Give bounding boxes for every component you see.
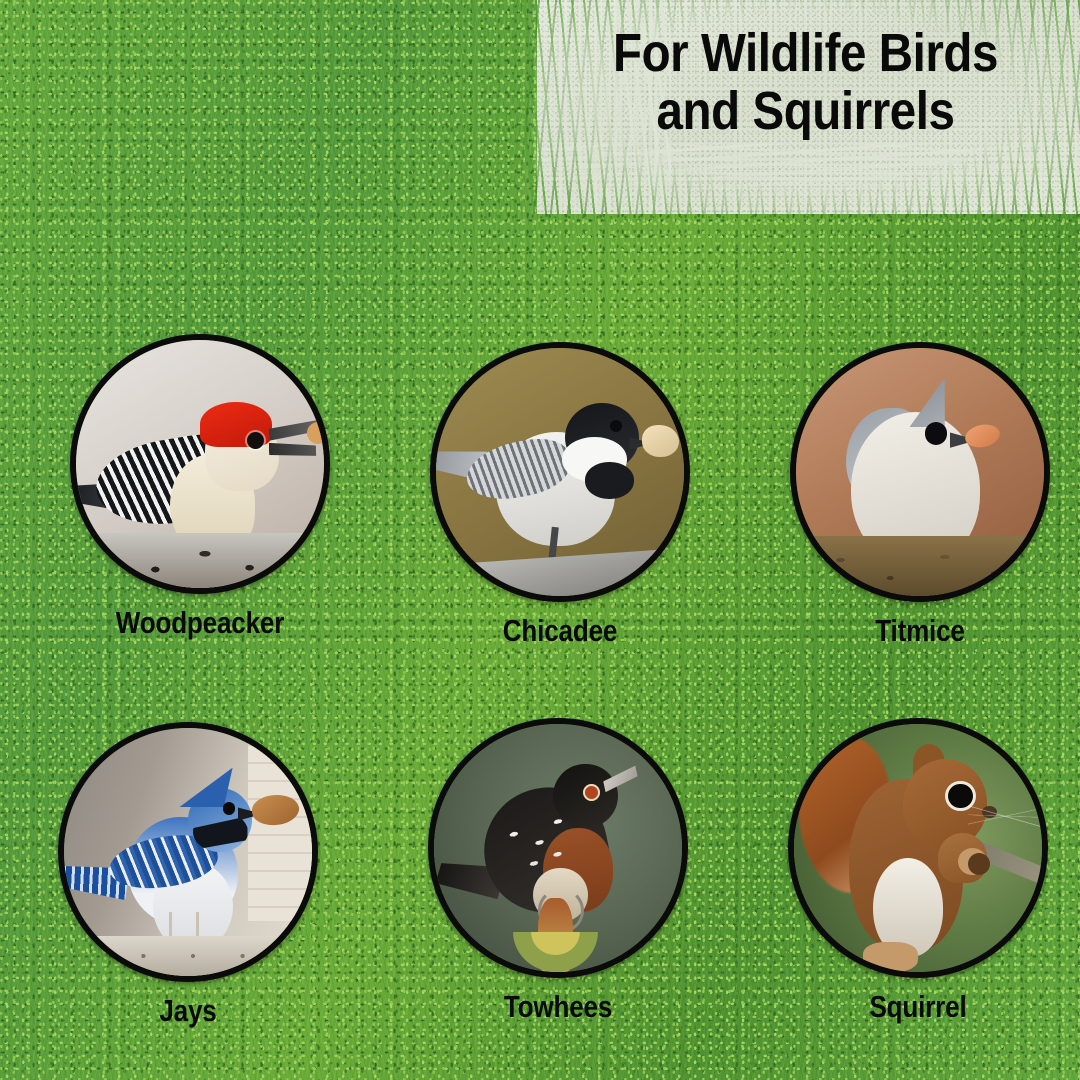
seed-pile [796, 536, 1044, 596]
chicadee-photo [430, 342, 690, 602]
squirrel-whiskers [968, 793, 1042, 838]
species-label-towhees: Towhees [449, 990, 667, 1024]
woodpecker-photo [70, 334, 330, 594]
species-card-titmice[interactable]: Titmice [790, 342, 1050, 648]
species-label-chicadee: Chicadee [451, 614, 669, 648]
feeder-wall [248, 728, 312, 921]
titmice-photo [790, 342, 1050, 602]
species-card-squirrel[interactable]: Squirrel [788, 718, 1048, 1024]
squirrel-foot [863, 942, 918, 972]
peanut-icon [642, 425, 679, 457]
headline-banner: For Wildlife Birds and Squirrels [521, 0, 1080, 214]
species-card-chicadee[interactable]: Chicadee [430, 342, 690, 648]
species-label-squirrel: Squirrel [809, 990, 1027, 1024]
species-label-titmice: Titmice [811, 614, 1029, 648]
bluejay-crest [173, 768, 233, 808]
titmouse-eye [925, 422, 947, 444]
chicadee-black-bib [585, 462, 635, 499]
towhee-red-eye [583, 784, 600, 801]
peanut-icon [307, 422, 324, 444]
species-card-jays[interactable]: Jays [58, 722, 318, 1028]
platform-holes [64, 941, 312, 971]
seed-scatter [76, 538, 324, 583]
squirrel-photo [788, 718, 1048, 978]
nut-icon [968, 853, 990, 875]
towhees-photo [428, 718, 688, 978]
species-card-woodpecker[interactable]: Woodpeacker [70, 334, 330, 640]
flower-petals [513, 932, 597, 972]
species-label-woodpecker: Woodpeacker [91, 606, 309, 640]
wooden-perch [455, 548, 684, 596]
species-label-jays: Jays [79, 994, 297, 1028]
bluejay-eye [223, 802, 235, 814]
page-title: For Wildlife Birds and Squirrels [576, 24, 1034, 140]
species-card-towhees[interactable]: Towhees [428, 718, 688, 1024]
jays-photo [58, 722, 318, 982]
